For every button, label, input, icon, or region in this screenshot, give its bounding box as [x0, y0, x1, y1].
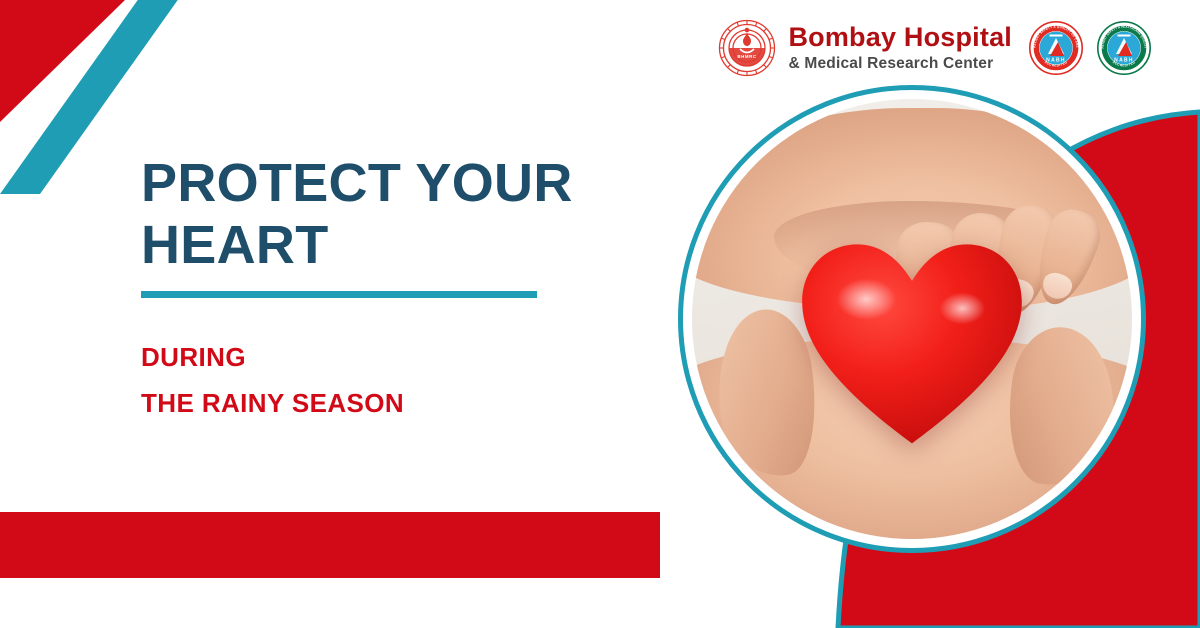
promotional-banner: PROTECT YOUR HEART DURING THE RAINY SEAS… [0, 0, 1200, 628]
photo-inner [692, 99, 1132, 539]
bombay-hospital-seal-icon: BHMRC [718, 19, 776, 77]
red-heart-icon [798, 240, 1027, 451]
subtitle-line-1: DURING [141, 334, 611, 380]
nabh-red-seal-icon: NABH PATIENT SAFETY & QUALITY OF CARE AC… [1028, 20, 1084, 76]
brand-name-line1: Bombay Hospital [788, 24, 1012, 51]
headline-line-2: HEART [141, 215, 329, 275]
subtitle: DURING THE RAINY SEASON [141, 334, 611, 427]
headline-line-1: PROTECT YOUR [141, 153, 573, 213]
page-title: PROTECT YOUR HEART [141, 153, 611, 276]
svg-text:BHMRC: BHMRC [738, 54, 758, 59]
brand-wordmark: Bombay Hospital & Medical Research Cente… [788, 24, 1012, 72]
teal-divider-rule [141, 291, 537, 298]
headline-block: PROTECT YOUR HEART DURING THE RAINY SEAS… [141, 153, 611, 427]
brand-header: BHMRC Bombay Hospital & Medical Research… [718, 17, 1152, 79]
red-corner-triangle [0, 0, 125, 122]
red-bottom-bar [0, 512, 660, 578]
brand-name-line2: & Medical Research Center [788, 56, 1012, 72]
subtitle-line-2: THE RAINY SEASON [141, 380, 611, 426]
nabh-green-seal-icon: NABH PATIENT SAFETY & HEALTHCARE QUALITY… [1096, 20, 1152, 76]
hands-holding-heart-photo [678, 85, 1146, 553]
